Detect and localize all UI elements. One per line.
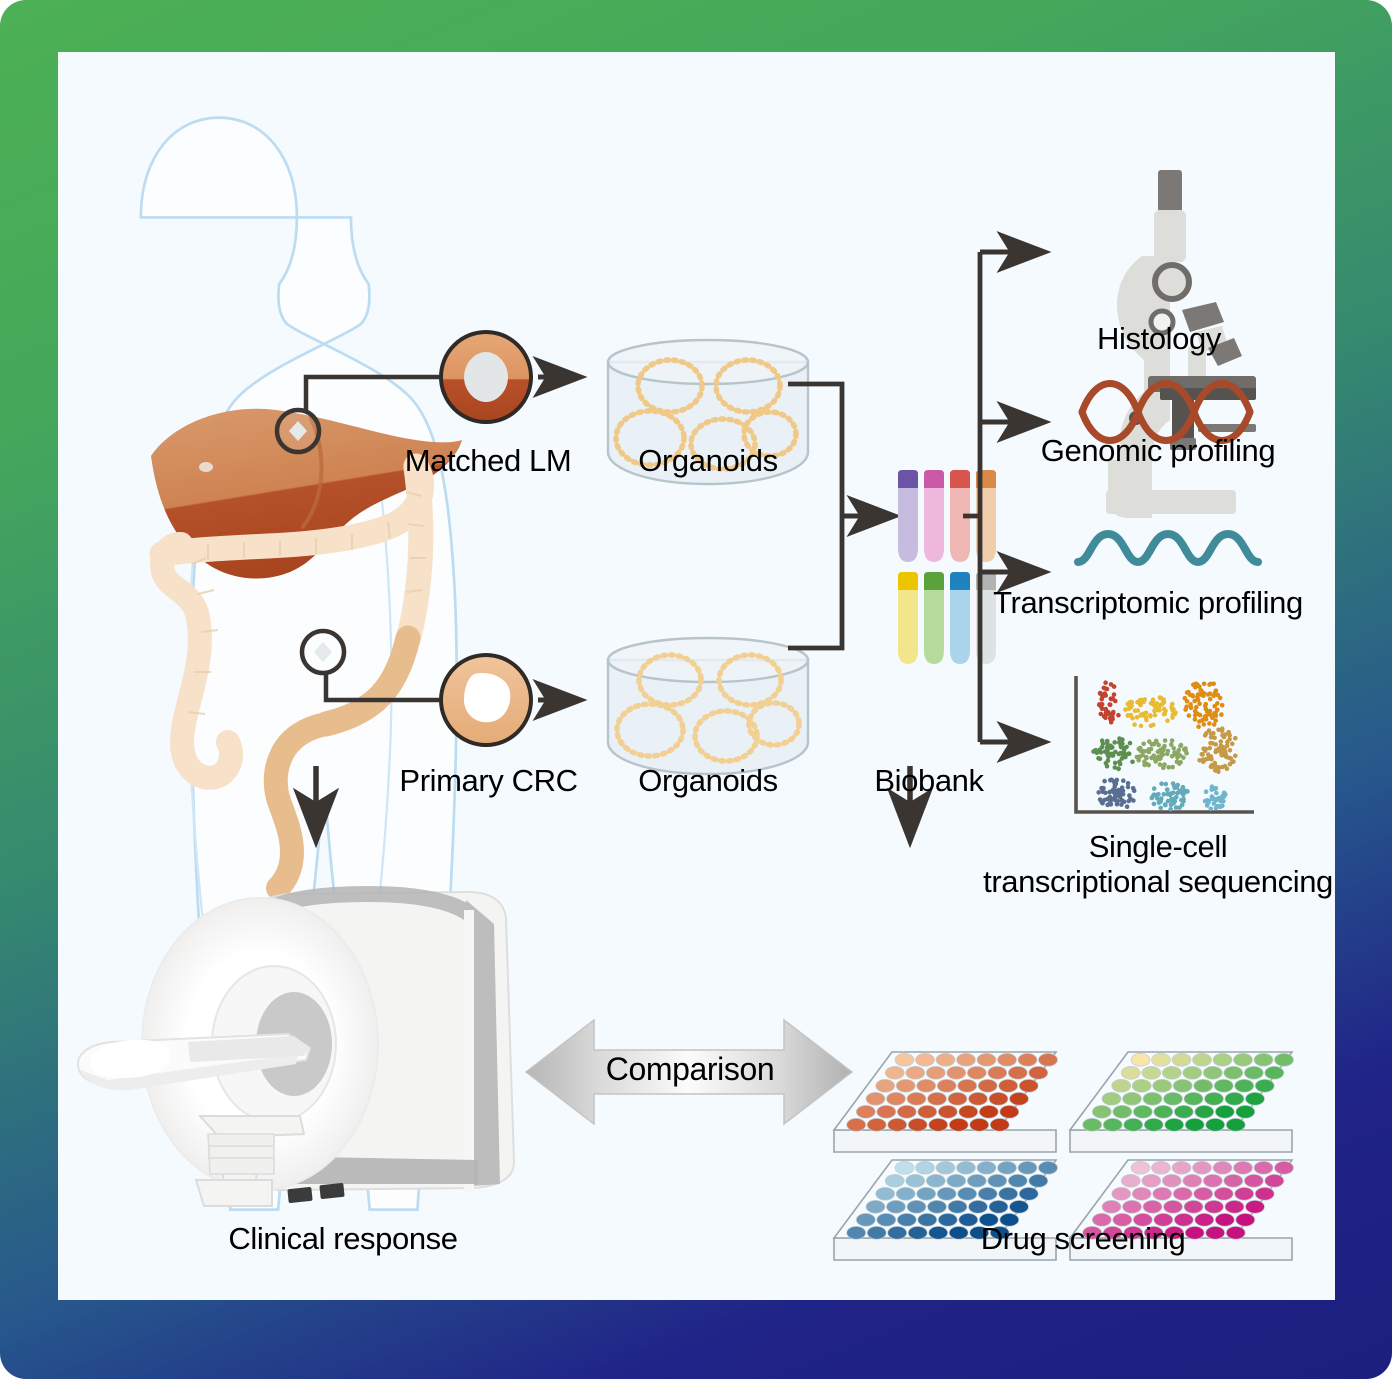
plate-well <box>1214 1187 1233 1200</box>
plate-well <box>1029 1174 1048 1187</box>
plate-well <box>1172 1161 1191 1174</box>
plate-well <box>928 1200 947 1213</box>
plate-well <box>1224 1174 1243 1187</box>
plate-well <box>1123 1200 1142 1213</box>
plate-well <box>1039 1053 1058 1066</box>
merge-bracket <box>788 384 842 648</box>
label-histology: Histology <box>1044 322 1274 357</box>
plate-well <box>1164 1200 1183 1213</box>
plate-well <box>867 1118 886 1131</box>
plate-well <box>1000 1105 1019 1118</box>
plate-well <box>1154 1105 1173 1118</box>
plate-well <box>1213 1161 1232 1174</box>
plate-well <box>1121 1174 1140 1187</box>
plate-well <box>957 1161 976 1174</box>
plate-well <box>1254 1053 1273 1066</box>
plate-well <box>998 1053 1017 1066</box>
plate-well <box>1234 1053 1253 1066</box>
plate-well <box>1193 1053 1212 1066</box>
plate-well <box>947 1174 966 1187</box>
plate-well <box>1153 1079 1172 1092</box>
plate-well <box>916 1053 935 1066</box>
plate-well <box>1275 1161 1294 1174</box>
plate-well <box>917 1187 936 1200</box>
plate-well <box>989 1200 1008 1213</box>
plate-well <box>1275 1053 1294 1066</box>
cluster-sage <box>1135 738 1189 770</box>
plate-well <box>1112 1187 1131 1200</box>
label-organoids-bottom: Organoids <box>608 764 808 799</box>
plate-well <box>967 1174 986 1187</box>
biobank-tube-rack <box>898 470 996 664</box>
plate-well <box>969 1092 988 1105</box>
plate-well <box>967 1066 986 1079</box>
cluster-lightblue <box>1203 784 1228 811</box>
plate-well <box>907 1092 926 1105</box>
plate-well <box>916 1161 935 1174</box>
plate-well <box>1018 1161 1037 1174</box>
connector-lines <box>306 377 439 700</box>
plate-well <box>1183 1174 1202 1187</box>
cluster-red <box>1097 680 1121 724</box>
plate-well <box>867 1226 886 1239</box>
plate-well <box>906 1066 925 1079</box>
plate-well <box>936 1053 955 1066</box>
plate-well <box>876 1187 895 1200</box>
plate-well <box>888 1118 907 1131</box>
plate-well <box>907 1200 926 1213</box>
plate-well <box>885 1066 904 1079</box>
plate-well <box>926 1066 945 1079</box>
matched-lm-sample-icon <box>441 332 531 422</box>
plate-well <box>1144 1118 1163 1131</box>
label-transcriptomic-profiling: Transcriptomic profiling <box>958 586 1338 621</box>
plate-well <box>1152 1053 1171 1066</box>
plate-well <box>1162 1174 1181 1187</box>
plate-well <box>1133 1105 1152 1118</box>
plate-well <box>1225 1092 1244 1105</box>
plate-well <box>958 1187 977 1200</box>
plate-well <box>1132 1187 1151 1200</box>
plate-well <box>1173 1079 1192 1092</box>
plate-well <box>897 1105 916 1118</box>
plate-well <box>1103 1118 1122 1131</box>
plate-well <box>847 1118 866 1131</box>
plate-well <box>876 1079 895 1092</box>
plate-well <box>1246 1092 1265 1105</box>
plate-well <box>1265 1066 1284 1079</box>
plate-well <box>906 1174 925 1187</box>
plate-well <box>957 1053 976 1066</box>
plate-well <box>887 1092 906 1105</box>
cluster-teal <box>1150 781 1190 811</box>
biobank-tube <box>976 470 996 562</box>
biobank-tube <box>924 470 944 562</box>
plate-well <box>1143 1200 1162 1213</box>
label-matched-lm: Matched LM <box>388 444 588 479</box>
plate-well <box>978 1079 997 1092</box>
plate-well <box>895 1053 914 1066</box>
sine-wave-icon <box>1078 534 1258 562</box>
plate-well <box>1165 1118 1184 1131</box>
figure-graphics <box>58 52 1335 1300</box>
plate-well <box>1203 1174 1222 1187</box>
plate-well <box>1203 1066 1222 1079</box>
plate-well <box>1112 1079 1131 1092</box>
plate-well <box>1235 1079 1254 1092</box>
plate-well <box>988 1066 1007 1079</box>
analysis-branch-bracket <box>963 252 980 742</box>
label-primary-crc: Primary CRC <box>386 764 591 799</box>
plate-well <box>1142 1066 1161 1079</box>
plate-well <box>949 1118 968 1131</box>
plate-well <box>1235 1187 1254 1200</box>
label-single-cell: Single-cell transcriptional sequencing <box>978 830 1338 899</box>
plate-well <box>917 1079 936 1092</box>
plate-well <box>887 1200 906 1213</box>
mri-scanner-icon <box>78 892 514 1206</box>
plate-yellow-green <box>1070 1052 1294 1152</box>
plate-well <box>1255 1187 1274 1200</box>
plate-well <box>1010 1092 1029 1105</box>
primary-crc-sample-icon <box>441 655 531 745</box>
plate-well <box>999 1187 1018 1200</box>
cluster-yellow <box>1123 695 1178 728</box>
plate-well <box>937 1079 956 1092</box>
biobank-tube <box>898 572 918 664</box>
plate-well <box>1195 1105 1214 1118</box>
plate-well <box>977 1161 996 1174</box>
colon-icon <box>162 466 426 888</box>
liver-lesion-marker <box>277 410 319 452</box>
plate-well <box>998 1161 1017 1174</box>
cluster-green <box>1091 736 1135 771</box>
plate-well <box>1018 1053 1037 1066</box>
label-drug-screening: Drug screening <box>908 1222 1258 1257</box>
plate-well <box>1184 1200 1203 1213</box>
plate-well <box>999 1079 1018 1092</box>
plate-well <box>1226 1118 1245 1131</box>
plate-orange-red <box>834 1052 1058 1152</box>
plate-well <box>908 1118 927 1131</box>
label-biobank: Biobank <box>834 764 1024 799</box>
plate-well <box>1215 1105 1234 1118</box>
crc-lesion-marker <box>302 631 344 673</box>
plate-well <box>1246 1200 1265 1213</box>
plate-well <box>1224 1066 1243 1079</box>
figure-panel: Matched LM Organoids Primary CRC Organoi… <box>58 52 1335 1300</box>
plate-well <box>1083 1118 1102 1131</box>
plate-well <box>856 1213 875 1226</box>
plate-well <box>1142 1174 1161 1187</box>
plate-well <box>1019 1079 1038 1092</box>
biobank-tube <box>924 572 944 664</box>
plate-well <box>1008 1066 1027 1079</box>
plate-well <box>970 1118 989 1131</box>
plate-well <box>1113 1105 1132 1118</box>
plate-well <box>866 1200 885 1213</box>
plate-well <box>1019 1187 1038 1200</box>
plate-well <box>1172 1053 1191 1066</box>
plate-well <box>1206 1118 1225 1131</box>
plate-well <box>1039 1161 1058 1174</box>
biobank-tube <box>950 470 970 562</box>
plate-well <box>1029 1066 1048 1079</box>
plate-well <box>959 1105 978 1118</box>
plate-well <box>947 1066 966 1079</box>
petri-dish-icon <box>608 638 808 774</box>
analysis-arrows <box>980 252 1044 742</box>
plate-well <box>1244 1174 1263 1187</box>
cluster-slate <box>1096 778 1136 810</box>
plate-well <box>978 1187 997 1200</box>
scatter-plot-icon <box>1076 676 1254 812</box>
plate-well <box>1102 1092 1121 1105</box>
plate-well <box>1124 1118 1143 1131</box>
dna-helix-icon <box>1082 384 1250 441</box>
plate-well <box>1184 1092 1203 1105</box>
plate-well <box>969 1200 988 1213</box>
plate-well <box>847 1226 866 1239</box>
plate-well <box>926 1174 945 1187</box>
figure-canvas: Matched LM Organoids Primary CRC Organoi… <box>0 0 1392 1379</box>
plate-well <box>990 1118 1009 1131</box>
plate-well <box>948 1092 967 1105</box>
plate-well <box>1185 1118 1204 1131</box>
plate-well <box>1234 1161 1253 1174</box>
plate-well <box>1131 1161 1150 1174</box>
plate-well <box>938 1105 957 1118</box>
plate-well <box>918 1105 937 1118</box>
biobank-tube <box>898 470 918 562</box>
plate-well <box>1205 1092 1224 1105</box>
label-clinical-response: Clinical response <box>168 1222 518 1257</box>
plate-well <box>1194 1079 1213 1092</box>
plate-well <box>936 1161 955 1174</box>
label-genomic-profiling: Genomic profiling <box>978 434 1338 469</box>
plate-well <box>1010 1200 1029 1213</box>
plate-well <box>928 1092 947 1105</box>
plate-well <box>1092 1105 1111 1118</box>
human-body-icon <box>141 118 457 1210</box>
plate-well <box>1205 1200 1224 1213</box>
plate-well <box>1214 1079 1233 1092</box>
plate-well <box>1244 1066 1263 1079</box>
plate-well <box>856 1105 875 1118</box>
plate-well <box>1183 1066 1202 1079</box>
plate-well <box>1123 1092 1142 1105</box>
plate-well <box>1193 1161 1212 1174</box>
plate-well <box>1173 1187 1192 1200</box>
plate-well <box>888 1226 907 1239</box>
cluster-gold <box>1197 726 1237 774</box>
plate-well <box>988 1174 1007 1187</box>
plate-well <box>929 1118 948 1131</box>
plate-well <box>896 1079 915 1092</box>
plate-well <box>896 1187 915 1200</box>
plate-well <box>1162 1066 1181 1079</box>
plate-well <box>948 1200 967 1213</box>
plate-well <box>1174 1105 1193 1118</box>
plate-well <box>977 1053 996 1066</box>
plate-well <box>1102 1200 1121 1213</box>
plate-well <box>1131 1053 1150 1066</box>
plate-well <box>1255 1079 1274 1092</box>
plate-well <box>1213 1053 1232 1066</box>
plate-well <box>1225 1200 1244 1213</box>
plate-well <box>877 1213 896 1226</box>
plate-well <box>1008 1174 1027 1187</box>
plate-well <box>1143 1092 1162 1105</box>
plate-well <box>895 1161 914 1174</box>
plate-well <box>866 1092 885 1105</box>
plate-well <box>958 1079 977 1092</box>
label-organoids-top: Organoids <box>608 444 808 479</box>
plate-well <box>1265 1174 1284 1187</box>
liver-icon <box>151 409 462 579</box>
plate-well <box>979 1105 998 1118</box>
plate-well <box>885 1174 904 1187</box>
plate-well <box>1152 1161 1171 1174</box>
plate-well <box>877 1105 896 1118</box>
plate-well <box>1121 1066 1140 1079</box>
plate-well <box>1132 1079 1151 1092</box>
plate-well <box>1153 1187 1172 1200</box>
plate-well <box>1194 1187 1213 1200</box>
cluster-orange <box>1183 681 1225 729</box>
plate-well <box>1164 1092 1183 1105</box>
label-comparison: Comparison <box>594 1052 786 1088</box>
plate-well <box>1236 1105 1255 1118</box>
plate-well <box>989 1092 1008 1105</box>
plate-well <box>1254 1161 1273 1174</box>
plate-well <box>937 1187 956 1200</box>
